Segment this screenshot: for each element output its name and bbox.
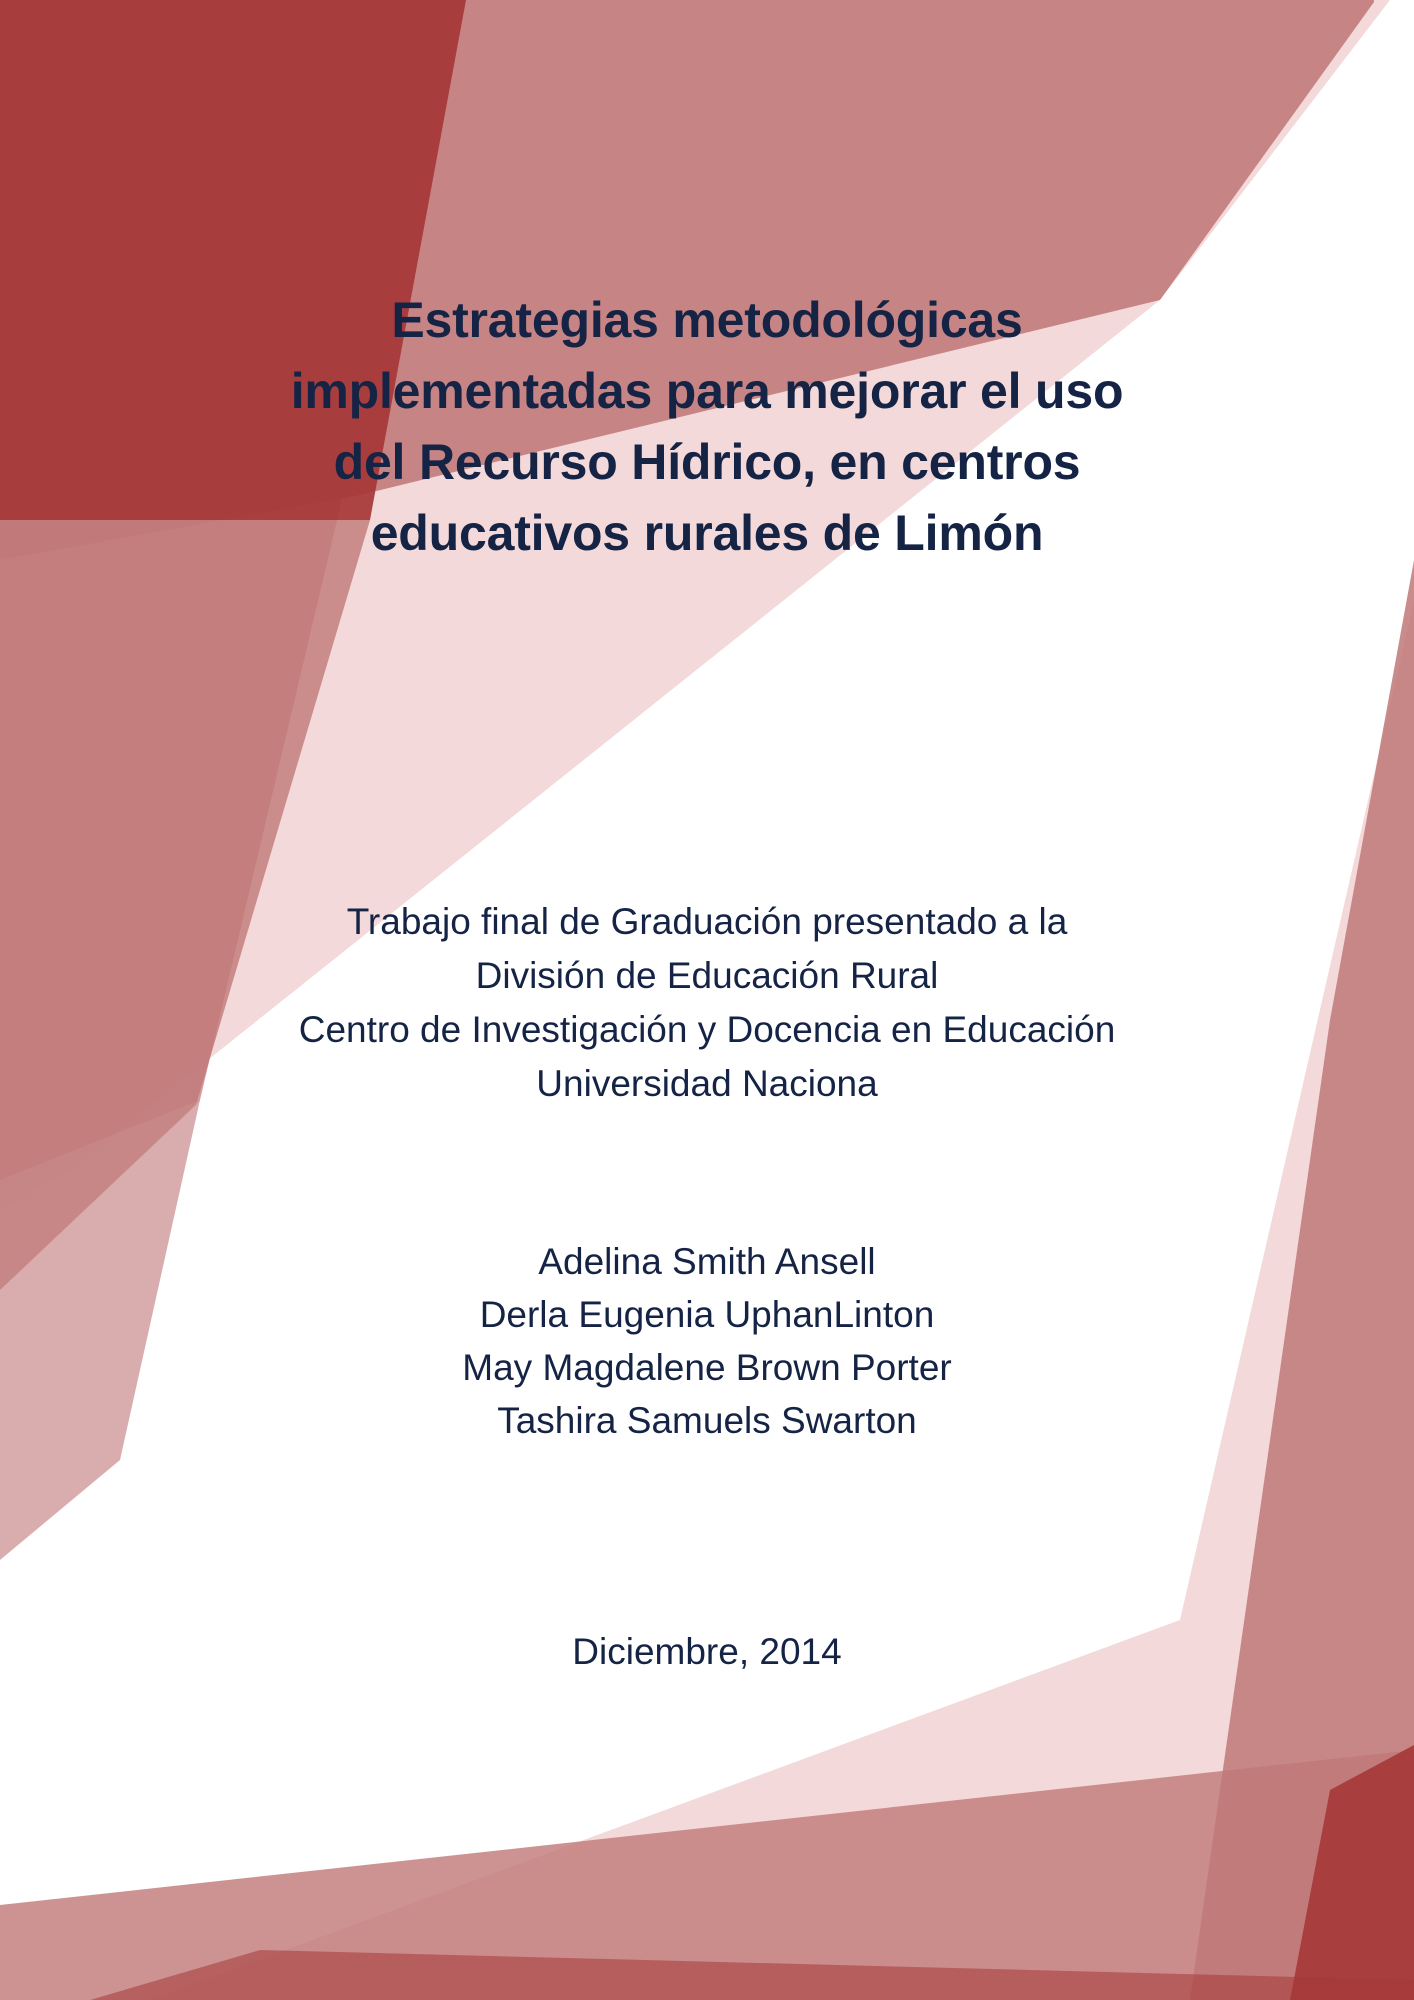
author-name: Adelina Smith Ansell xyxy=(107,1235,1307,1288)
date-text: Diciembre, 2014 xyxy=(107,1625,1307,1678)
publication-date: Diciembre, 2014 xyxy=(107,1625,1307,1678)
title-line-4: educativos rurales de Limón xyxy=(150,498,1264,569)
cover-page: Estrategias metodológicas implementadas … xyxy=(0,0,1414,2000)
submission-line-1: Trabajo final de Graduación presentado a… xyxy=(107,895,1307,949)
author-name: Tashira Samuels Swarton xyxy=(107,1394,1307,1447)
author-name: May Magdalene Brown Porter xyxy=(107,1341,1307,1394)
submission-line-4: Universidad Naciona xyxy=(107,1057,1307,1111)
title-line-1: Estrategias metodológicas xyxy=(150,285,1264,356)
page-title: Estrategias metodológicas implementadas … xyxy=(150,285,1264,569)
author-list: Adelina Smith Ansell Derla Eugenia Uphan… xyxy=(107,1235,1307,1447)
title-line-3: del Recurso Hídrico, en centros xyxy=(150,427,1264,498)
submission-line-3: Centro de Investigación y Docencia en Ed… xyxy=(107,1003,1307,1057)
title-line-2: implementadas para mejorar el uso xyxy=(150,356,1264,427)
cover-content: Estrategias metodológicas implementadas … xyxy=(0,0,1414,2000)
submission-statement: Trabajo final de Graduación presentado a… xyxy=(107,895,1307,1111)
author-name: Derla Eugenia UphanLinton xyxy=(107,1288,1307,1341)
submission-line-2: División de Educación Rural xyxy=(107,949,1307,1003)
